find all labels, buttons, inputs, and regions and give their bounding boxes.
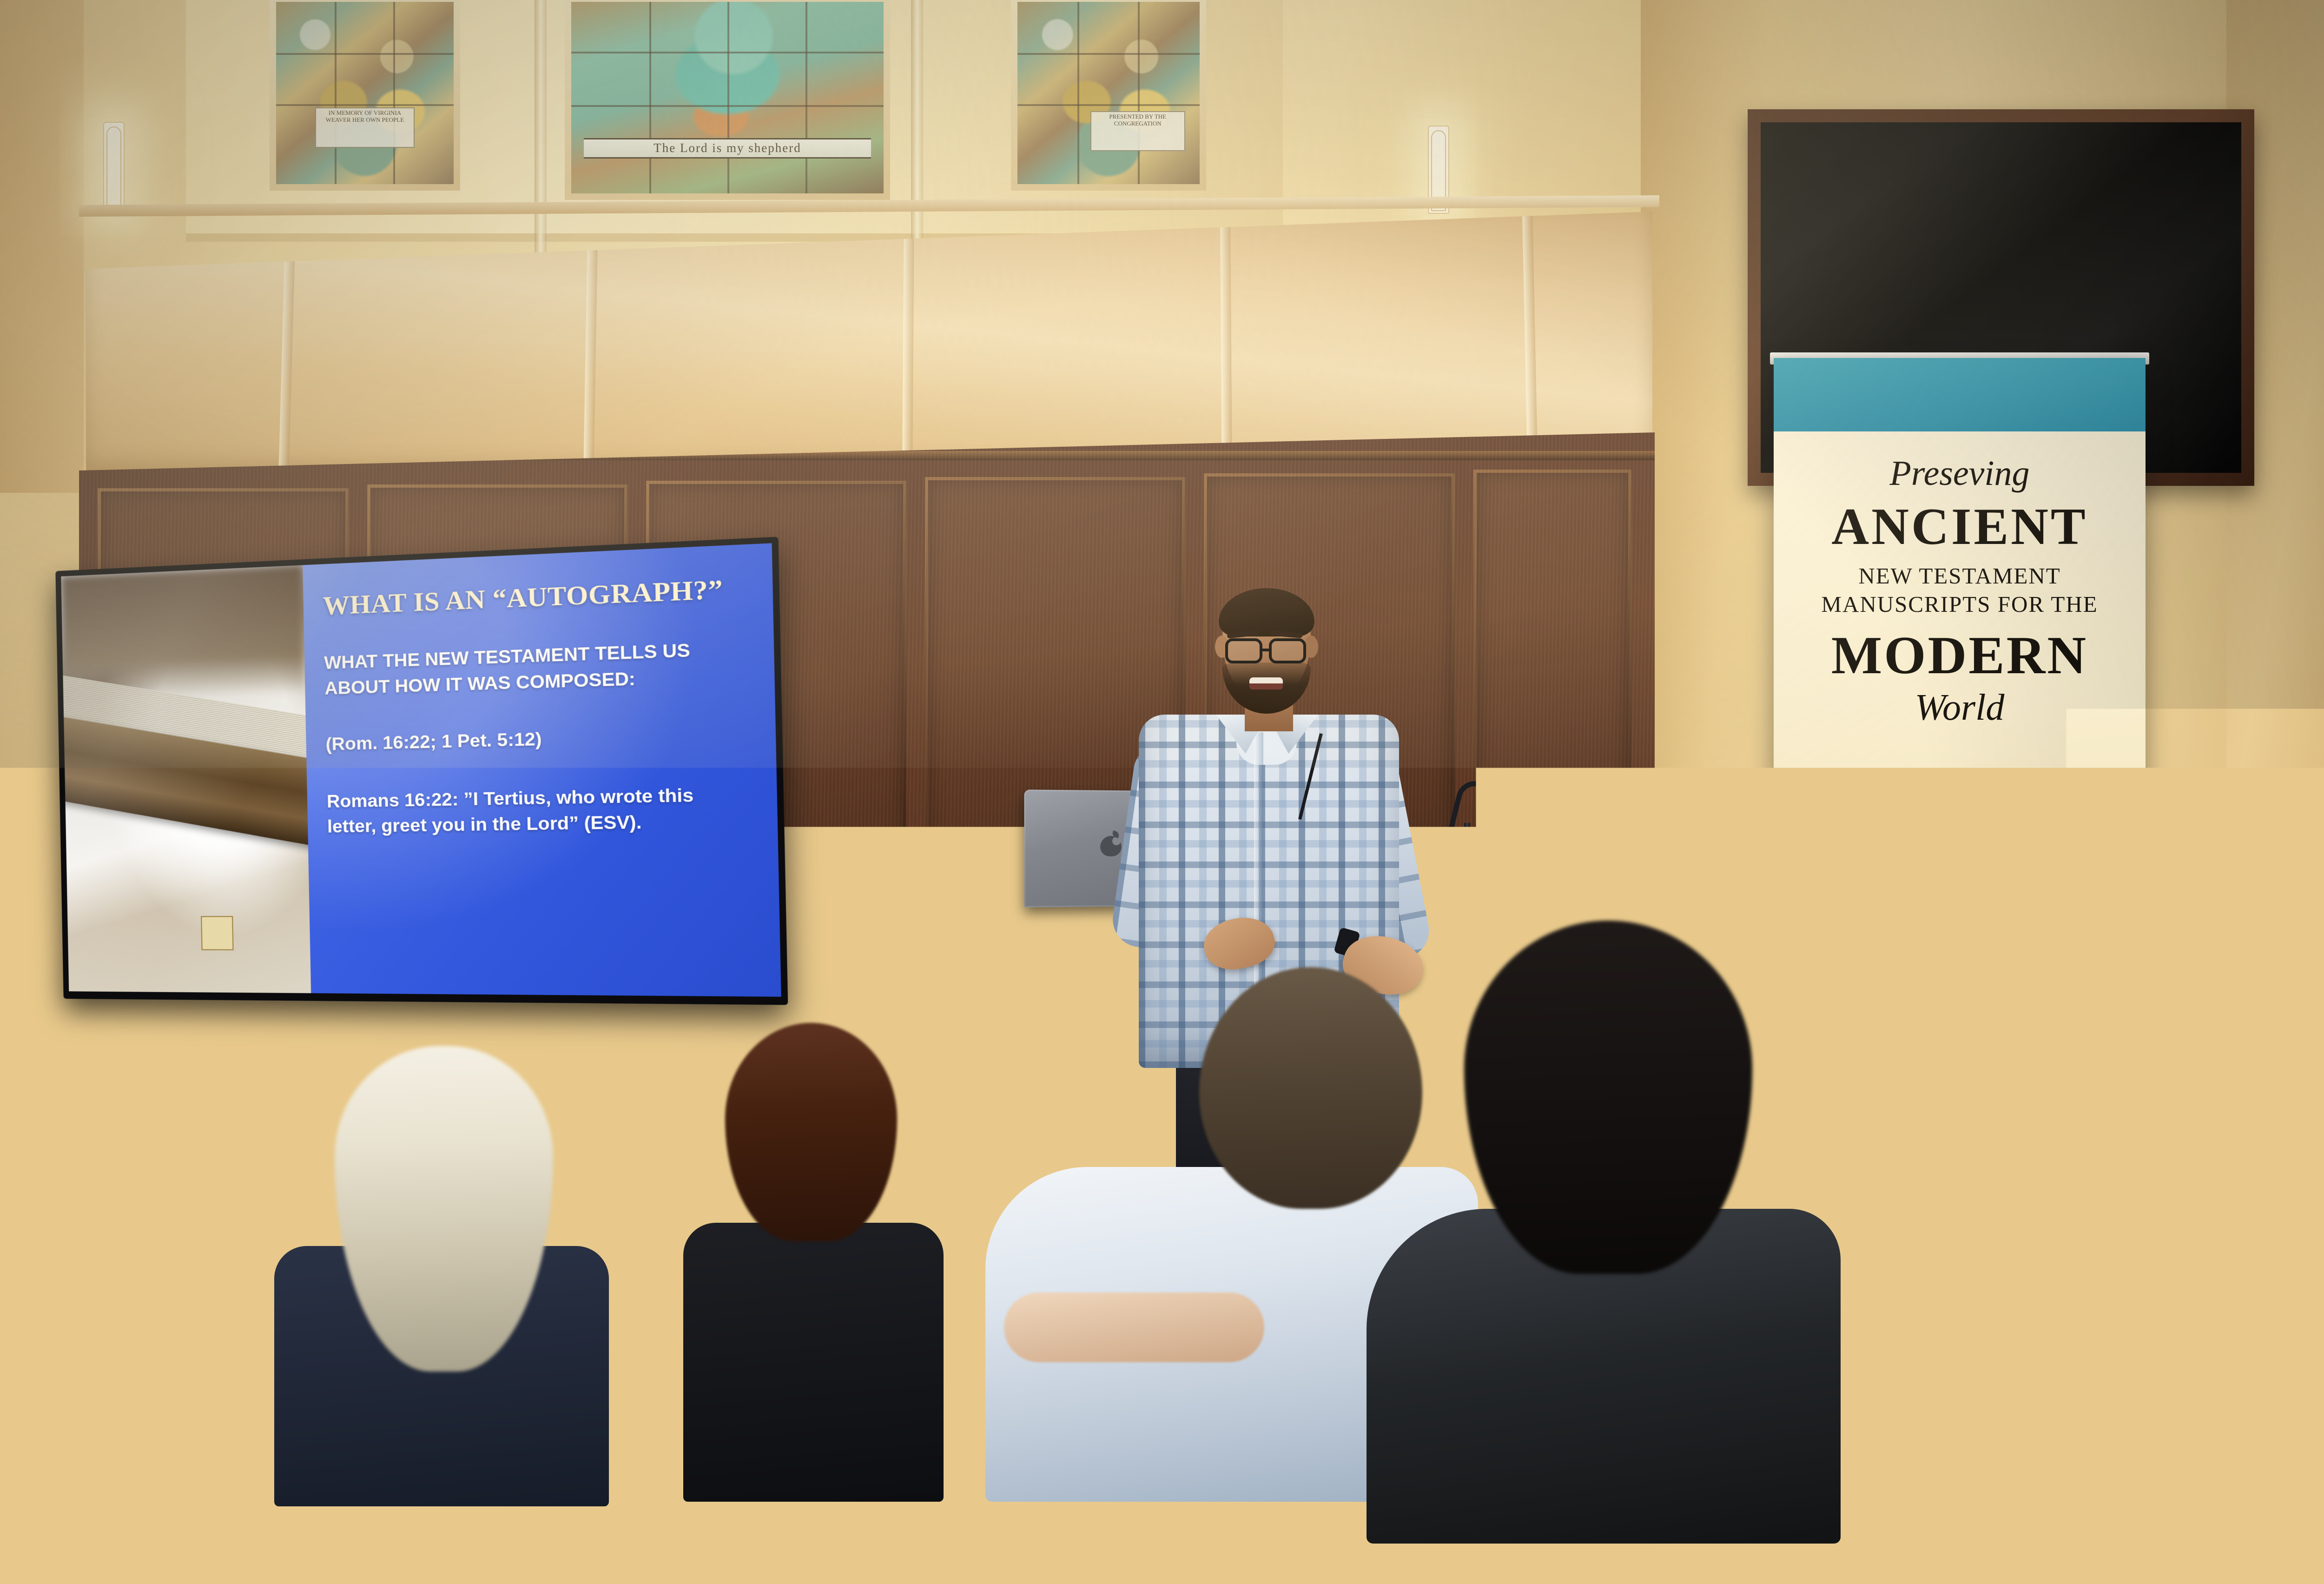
audience-hair-auburn	[725, 1023, 897, 1241]
window-plaque-right: PRESENTED BY THE CONGREGATION	[1090, 111, 1185, 151]
foreground-seat	[1143, 1330, 1404, 1483]
stained-glass-window-center: The Lord is my shepherd	[565, 0, 890, 200]
eyeglasses-lens-right	[1269, 638, 1306, 663]
banner-line-new-testament: NEW TESTAMENT	[1774, 562, 2146, 590]
foreground-seat	[0, 1330, 260, 1483]
banner-teal-header	[1774, 358, 2146, 431]
presenter-ear-right	[1304, 636, 1318, 658]
foreground-seat	[286, 1330, 546, 1483]
banner-line-world: World	[1774, 689, 2146, 726]
banner-line-preserving: Preseving	[1774, 456, 2146, 491]
foreground-seat-row	[0, 1330, 2324, 1584]
slide-screen: WHAT IS AN “AUTOGRAPH?” WHAT THE NEW TES…	[61, 543, 781, 997]
presenter-hair	[1219, 588, 1314, 636]
row-number-plate	[2240, 1437, 2265, 1455]
banner-line-ancient: ANCIENT	[1774, 498, 2146, 556]
shepherd-scroll-text: The Lord is my shepherd	[584, 138, 871, 159]
slide-text-panel: WHAT IS AN “AUTOGRAPH?” WHAT THE NEW TES…	[303, 543, 781, 997]
presentation-display[interactable]: WHAT IS AN “AUTOGRAPH?” WHAT THE NEW TES…	[55, 537, 788, 1005]
foreground-seat	[858, 1330, 1118, 1483]
audience-head-grey-hair	[2003, 1004, 2199, 1237]
keyboard-brand-mark: nue	[0, 1119, 9, 1131]
stained-glass-window-left: IN MEMORY OF VIRGINIA WEAVER HER OWN PEO…	[270, 0, 460, 191]
wall-panel	[1473, 470, 1631, 869]
eyeglasses-bridge	[1262, 649, 1272, 651]
presenter-mouth	[1249, 677, 1283, 689]
foreground-seat	[1715, 1330, 1975, 1483]
stained-glass-art-left	[276, 2, 454, 184]
eyeglasses-lens-left	[1225, 638, 1262, 663]
foreground-seat	[1429, 1330, 1690, 1483]
keyboard-stand-leg	[14, 1152, 22, 1291]
stained-glass-window-right: PRESENTED BY THE CONGREGATION	[1011, 0, 1206, 191]
left-wall-strip	[0, 0, 84, 493]
slide-title: WHAT IS AN “AUTOGRAPH?”	[323, 572, 754, 621]
slide-scripture-refs: (Rom. 16:22; 1 Pet. 5:12)	[325, 721, 757, 757]
banner-text-block: Preseving ANCIENT NEW TESTAMENT MANUSCRI…	[1774, 456, 2146, 726]
keyboard-stand-leg	[153, 1152, 162, 1291]
wall-sconce-left	[103, 122, 125, 210]
foreground-seat	[572, 1330, 832, 1483]
slide-manuscript-photo	[61, 565, 311, 993]
lecture-scene-photo: IN MEMORY OF VIRGINIA WEAVER HER OWN PEO…	[0, 0, 2324, 1584]
banner-line-manuscripts: MANUSCRIPTS FOR THE	[1774, 590, 2146, 619]
stained-glass-art-right	[1017, 2, 1200, 184]
banner-line-modern: MODERN	[1774, 626, 2146, 686]
row-number-plate	[832, 1437, 856, 1455]
tv-stand-leg-left	[223, 1000, 235, 1200]
manuscript-label-tag	[201, 916, 234, 950]
foreground-seat	[2001, 1330, 2261, 1483]
audience-hair-braided	[1464, 921, 1752, 1274]
window-plaque-left: IN MEMORY OF VIRGINIA WEAVER HER OWN PEO…	[315, 107, 415, 147]
